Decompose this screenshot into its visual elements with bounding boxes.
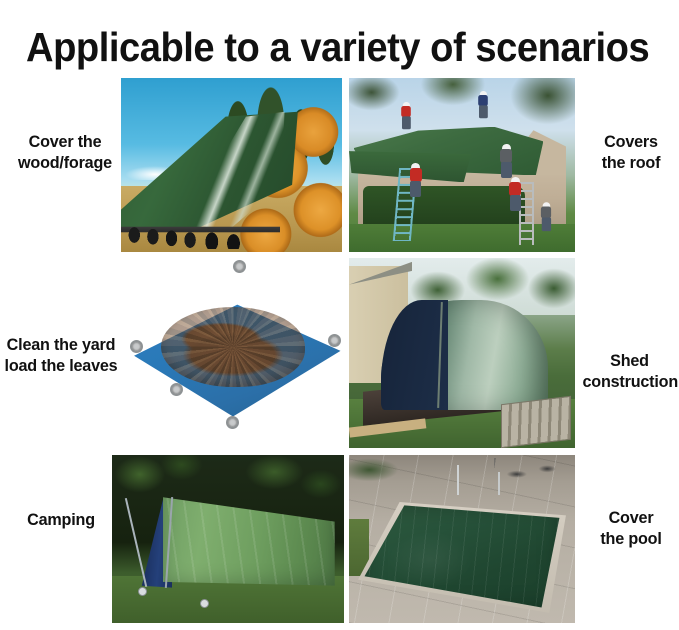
scenario-label-covers-roof: Covers the roof: [587, 131, 674, 173]
scenario-label-cover-pool: Cover the pool: [587, 507, 674, 549]
scenario-image-covers-roof: [349, 78, 575, 252]
worker-legs-shape: [478, 106, 487, 119]
hedge-shape: [363, 186, 526, 228]
worker-figure: [507, 177, 523, 217]
scenario-label-line-2: load the leaves: [1, 355, 121, 376]
page-title: Applicable to a variety of scenarios: [26, 23, 621, 71]
scenario-label-clean-yard-load-leaves: Clean the yard load the leaves: [1, 334, 121, 376]
scenario-label-shed-construction: Shed construction: [582, 350, 676, 392]
grommet-icon: [200, 599, 209, 608]
scenario-label-line-1: Shed: [582, 350, 676, 371]
scenario-image-camping: [112, 455, 344, 623]
worker-torso-shape: [500, 149, 512, 163]
worker-legs-shape: [401, 116, 410, 129]
scenario-label-line-1: Clean the yard: [1, 334, 121, 355]
scenario-label-camping: Camping: [9, 509, 114, 530]
scenario-label-line-1: Cover: [587, 507, 674, 528]
scenario-image-shed-construction: [349, 258, 575, 448]
pool-rail-shape: [457, 465, 459, 495]
worker-torso-shape: [509, 182, 521, 196]
scenario-image-clean-yard-load-leaves: [121, 258, 345, 448]
tyre-weights-shape: [125, 221, 280, 249]
shrub-shape: [349, 455, 417, 492]
worker-torso-shape: [410, 168, 422, 182]
leaf-texture-shape: [161, 307, 304, 387]
scenario-label-cover-wood-forage: Cover the wood/forage: [9, 131, 121, 173]
scenario-image-cover-pool: [349, 455, 575, 623]
worker-torso-shape: [541, 206, 551, 218]
scenario-image-cover-wood-forage: [121, 78, 342, 252]
worker-figure: [477, 91, 488, 115]
scenario-label-line-1: Cover the: [9, 131, 121, 152]
worker-legs-shape: [510, 195, 521, 211]
grommet-icon: [233, 260, 246, 273]
worker-legs-shape: [541, 217, 550, 231]
worker-figure: [400, 102, 411, 126]
grommet-icon: [170, 383, 183, 396]
scenario-label-line-2: construction: [582, 371, 676, 392]
worker-figure: [408, 163, 424, 201]
grommet-icon: [138, 587, 147, 596]
grommet-icon: [130, 340, 143, 353]
patio-furniture-shape: [494, 458, 571, 485]
scenario-label-line-2: wood/forage: [9, 152, 121, 173]
grommet-icon: [226, 416, 239, 429]
grommet-icon: [328, 334, 341, 347]
worker-legs-shape: [501, 162, 512, 178]
scenario-label-line-2: the pool: [587, 528, 674, 549]
scenario-label-line-1: Covers: [587, 131, 674, 152]
scenario-label-line-1: Camping: [9, 509, 114, 530]
scenario-label-line-2: the roof: [587, 152, 674, 173]
worker-torso-shape: [401, 106, 411, 117]
worker-legs-shape: [410, 181, 421, 197]
wooden-pallet-shape: [501, 396, 571, 448]
worker-figure: [540, 202, 552, 228]
